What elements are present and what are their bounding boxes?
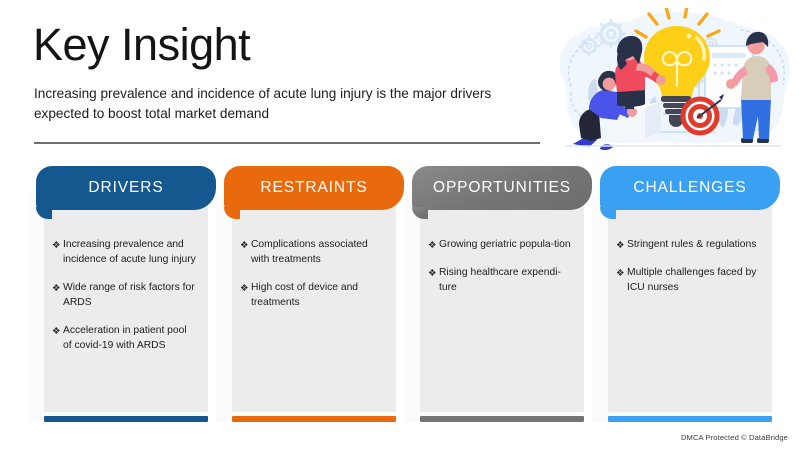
list-item-text: Acceleration in patient pool of covid-19… bbox=[63, 324, 198, 354]
card-challenges[interactable]: ❖ Stringent rules & regulations ❖ Multip… bbox=[600, 164, 780, 436]
diamond-bullet-icon: ❖ bbox=[52, 238, 63, 253]
list-item: ❖ High cost of device and treatments bbox=[240, 281, 386, 311]
list-item: ❖ Stringent rules & regulations bbox=[616, 238, 762, 253]
diamond-bullet-icon: ❖ bbox=[52, 281, 63, 296]
card-header-opportunities[interactable]: OPPORTUNITIES bbox=[412, 166, 592, 210]
list-item: ❖ Acceleration in patient pool of covid-… bbox=[52, 324, 198, 354]
card-bullet-list: ❖ Increasing prevalence and incidence of… bbox=[44, 188, 208, 367]
card-accent-bar bbox=[420, 416, 584, 422]
diamond-bullet-icon: ❖ bbox=[616, 238, 627, 253]
slide-root: Key Insight Increasing prevalence and in… bbox=[0, 0, 800, 450]
list-item-text: Increasing prevalence and incidence of a… bbox=[63, 238, 198, 268]
list-item-text: Rising healthcare expendi-ture bbox=[439, 266, 574, 296]
card-header-challenges[interactable]: CHALLENGES bbox=[600, 166, 780, 210]
diamond-bullet-icon: ❖ bbox=[240, 238, 251, 253]
page-subtitle: Increasing prevalence and incidence of a… bbox=[34, 84, 504, 125]
list-item: ❖ Wide range of risk factors for ARDS bbox=[52, 281, 198, 311]
list-item-text: Complications associated with treatments bbox=[251, 238, 386, 268]
card-accent-bar bbox=[232, 416, 396, 422]
list-item: ❖ Increasing prevalence and incidence of… bbox=[52, 238, 198, 268]
card-header-label: OPPORTUNITIES bbox=[433, 179, 571, 197]
list-item-text: Stringent rules & regulations bbox=[627, 238, 762, 253]
page-title: Key Insight bbox=[33, 21, 250, 68]
diamond-bullet-icon: ❖ bbox=[240, 281, 251, 296]
card-header-restraints[interactable]: RESTRAINTS bbox=[224, 166, 404, 210]
card-accent-bar bbox=[608, 416, 772, 422]
insight-cards: ❖ Increasing prevalence and incidence of… bbox=[0, 164, 800, 439]
card-restraints[interactable]: ❖ Complications associated with treatmen… bbox=[224, 164, 404, 436]
footer-credit: DMCA Protected © DataBridge bbox=[681, 433, 788, 442]
card-accent-bar bbox=[44, 416, 208, 422]
diamond-bullet-icon: ❖ bbox=[616, 266, 627, 281]
diamond-bullet-icon: ❖ bbox=[428, 266, 439, 281]
card-header-label: DRIVERS bbox=[88, 179, 163, 197]
card-header-label: RESTRAINTS bbox=[260, 179, 367, 197]
list-item-text: Growing geriatric popula-tion bbox=[439, 238, 574, 253]
list-item-text: Multiple challenges faced by ICU nurses bbox=[627, 266, 762, 296]
list-item: ❖ Rising healthcare expendi-ture bbox=[428, 266, 574, 296]
list-item: ❖ Complications associated with treatmen… bbox=[240, 238, 386, 268]
card-header-label: CHALLENGES bbox=[633, 179, 746, 197]
card-header-drivers[interactable]: DRIVERS bbox=[36, 166, 216, 210]
list-item: ❖ Growing geriatric popula-tion bbox=[428, 238, 574, 253]
diamond-bullet-icon: ❖ bbox=[52, 324, 63, 339]
list-item: ❖ Multiple challenges faced by ICU nurse… bbox=[616, 266, 762, 296]
diamond-bullet-icon: ❖ bbox=[428, 238, 439, 253]
list-item-text: High cost of device and treatments bbox=[251, 281, 386, 311]
card-opportunities[interactable]: ❖ Growing geriatric popula-tion ❖ Rising… bbox=[412, 164, 592, 436]
idea-teamwork-lightbulb-illustration bbox=[545, 8, 800, 160]
list-item-text: Wide range of risk factors for ARDS bbox=[63, 281, 198, 311]
title-divider bbox=[34, 142, 540, 144]
card-drivers[interactable]: ❖ Increasing prevalence and incidence of… bbox=[36, 164, 216, 436]
